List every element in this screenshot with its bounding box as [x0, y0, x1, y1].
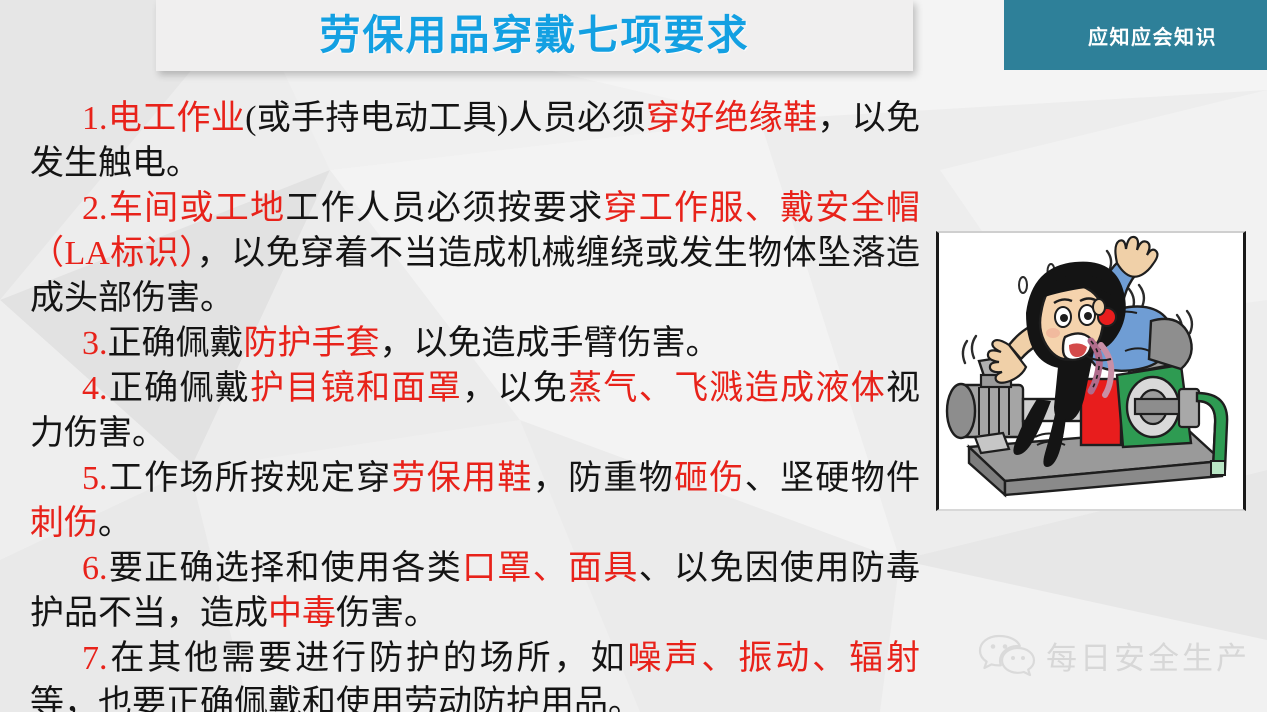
text-run: ，防重物: [533, 460, 674, 497]
corner-badge: 应知应会知识: [1004, 0, 1267, 70]
text-run: 、坚硬物件: [745, 460, 920, 497]
text-run: ，以免: [462, 370, 568, 407]
text-run: 伤害。: [336, 595, 438, 632]
highlight-run: 1.电工作业: [82, 100, 245, 137]
highlight-run: 4.: [82, 370, 108, 407]
text-run: 等，也要正确佩戴和使用劳动防护用品。: [30, 685, 642, 712]
highlight-run: 防护手套: [244, 325, 380, 362]
highlight-run: 砸伤: [674, 460, 745, 497]
highlight-run: 穿好绝缘鞋: [646, 100, 818, 137]
text-run: (或手持电动工具)人员必须: [245, 100, 646, 137]
requirement-list: 1.电工作业(或手持电动工具)人员必须穿好绝缘鞋，以免发生触电。 2.车间或工地…: [30, 96, 920, 712]
illustration-frame: [936, 231, 1246, 511]
highlight-run: 中毒: [268, 595, 336, 632]
highlight-run: 2.车间或工地: [82, 190, 285, 227]
watermark-label: 每日安全生产: [1046, 633, 1250, 678]
highlight-run: 5.: [82, 460, 108, 497]
highlight-run: 6.: [82, 550, 108, 587]
highlight-run: 刺伤: [30, 505, 98, 542]
highlight-run: 口罩、面具: [462, 550, 639, 587]
text-run: 。: [98, 505, 132, 542]
text-run: ，以免造成手臂伤害。: [380, 325, 720, 362]
slide-canvas: 劳保用品穿戴七项要求 应知应会知识 1.电工作业(或手持电动工具)人员必须穿好绝…: [0, 0, 1267, 712]
text-run: 正确佩戴: [108, 325, 244, 362]
corner-badge-label: 应知应会知识: [1088, 21, 1217, 50]
highlight-run: 噪声、振动、辐射: [627, 640, 920, 677]
wechat-icon: [978, 632, 1036, 678]
text-run: 工作场所按规定穿: [108, 460, 392, 497]
text-run: 正确佩戴: [108, 370, 251, 407]
list-item: 6.要正确选择和使用各类口罩、面具、以免因使用防毒护品不当，造成中毒伤害。: [30, 546, 920, 636]
highlight-run: 7.: [82, 640, 108, 677]
highlight-run: 蒸气、飞溅造成液体: [568, 370, 886, 407]
slide-title-panel: 劳保用品穿戴七项要求: [156, 0, 913, 71]
text-run: 在其他需要进行防护的场所，如: [108, 640, 628, 677]
highlight-run: 护目镜和面罩: [250, 370, 462, 407]
highlight-run: 3.: [82, 325, 108, 362]
watermark: 每日安全生产: [978, 632, 1250, 678]
text-run: 工作人员必须按要求: [285, 190, 603, 227]
lathe-accident-illustration: [939, 233, 1243, 509]
list-item: 1.电工作业(或手持电动工具)人员必须穿好绝缘鞋，以免发生触电。: [30, 96, 920, 186]
text-run: 要正确选择和使用各类: [108, 550, 463, 587]
list-item: 3.正确佩戴防护手套，以免造成手臂伤害。: [30, 321, 920, 366]
highlight-run: 劳保用鞋: [391, 460, 532, 497]
list-item: 5.工作场所按规定穿劳保用鞋，防重物砸伤、坚硬物件刺伤。: [30, 456, 920, 546]
list-item: 7.在其他需要进行防护的场所，如噪声、振动、辐射等，也要正确佩戴和使用劳动防护用…: [30, 636, 920, 712]
list-item: 2.车间或工地工作人员必须按要求穿工作服、戴安全帽（LA标识），以免穿着不当造成…: [30, 186, 920, 321]
list-item: 4.正确佩戴护目镜和面罩，以免蒸气、飞溅造成液体视力伤害。: [30, 366, 920, 456]
page-title: 劳保用品穿戴七项要求: [320, 15, 750, 56]
